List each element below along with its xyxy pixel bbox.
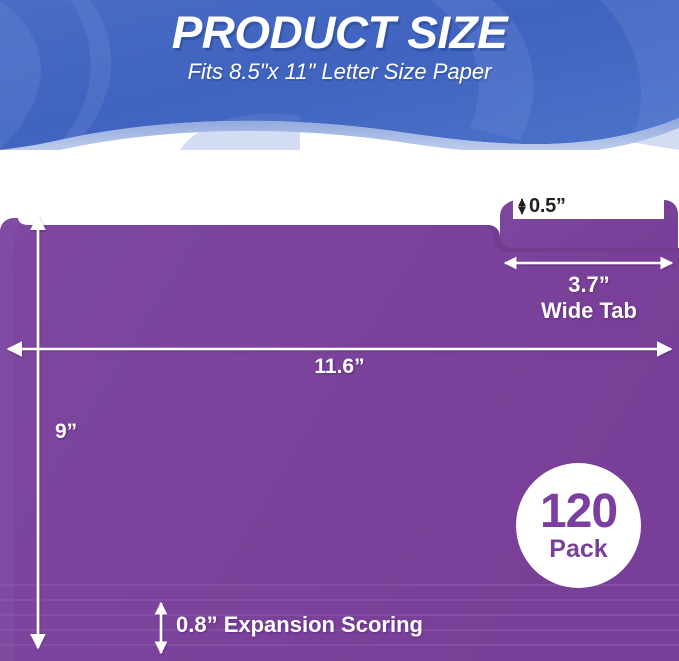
pack-count-unit: Pack xyxy=(549,536,607,562)
tab-height-value: 0.5” xyxy=(529,194,566,219)
tab-height-callout: 0.5” xyxy=(513,194,664,219)
tab-width-caption: Wide Tab xyxy=(498,298,679,324)
folder-height-label: 9” xyxy=(55,420,77,444)
folder-width-label: 11.6” xyxy=(0,355,679,379)
expansion-scoring-label: 0.8” Expansion Scoring xyxy=(176,612,423,638)
pack-count-badge: 120 Pack xyxy=(516,463,641,588)
tab-width-label: 3.7” xyxy=(498,272,679,298)
dimension-annotations: 0.5” 11.6” 9” 3.7” Wide Tab 0.8” Expansi… xyxy=(0,0,679,661)
product-size-infographic: PRODUCT SIZE Fits 8.5"x 11" Letter Size … xyxy=(0,0,679,661)
tab-height-arrow-icon xyxy=(513,194,529,219)
pack-count-number: 120 xyxy=(540,490,617,534)
